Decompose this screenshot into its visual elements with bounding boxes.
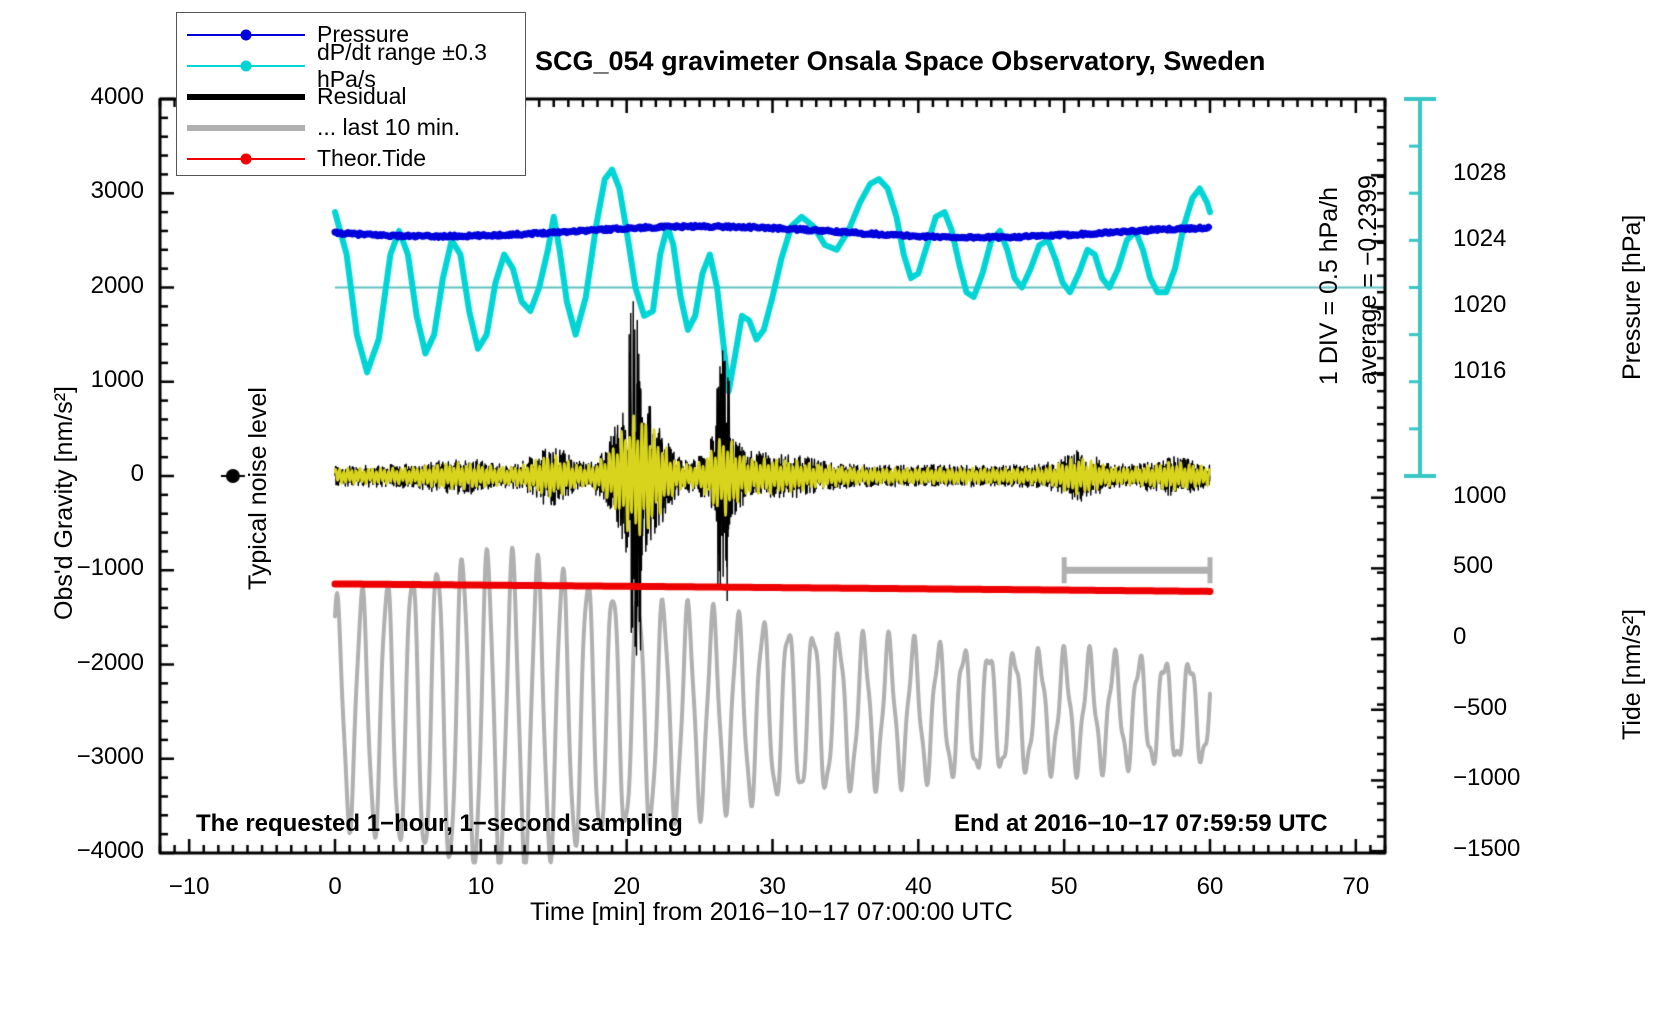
legend-item[interactable]: Theor.Tide <box>177 143 525 174</box>
chart-title: SCG_054 gravimeter Onsala Space Observat… <box>535 48 1265 75</box>
tide-axis-title: Tide [nm/s²] <box>1620 609 1645 740</box>
end-time-note: End at 2016−10−17 07:59:59 UTC <box>954 812 1328 836</box>
pressure-tick-label: 1024 <box>1453 227 1506 251</box>
legend-swatch-icon <box>187 149 305 169</box>
y-tick-label: 3000 <box>91 179 144 203</box>
sampling-note: The requested 1−hour, 1−second sampling <box>196 812 683 836</box>
x-tick-label: −10 <box>169 875 210 899</box>
y-axis-title: Obs'd Gravity [nm/s²] <box>52 386 77 620</box>
x-tick-label: 40 <box>905 875 932 899</box>
legend-swatch-icon <box>187 87 305 107</box>
gravimeter-plot-page: SCG_054 gravimeter Onsala Space Observat… <box>0 0 1676 1020</box>
legend-swatch-icon <box>187 118 305 138</box>
legend-item[interactable]: dP/dt range ±0.3 hPa/s <box>177 50 525 81</box>
scale-division-label: 1 DIV = 0.5 hPa/h <box>1317 187 1342 385</box>
scale-average-label: average = −0.2399 <box>1356 175 1381 385</box>
y-tick-label: 0 <box>131 462 144 486</box>
x-tick-label: 10 <box>467 875 494 899</box>
x-tick-label: 0 <box>328 875 341 899</box>
legend-item[interactable]: ... last 10 min. <box>177 112 525 143</box>
y-tick-label: −2000 <box>77 651 144 675</box>
legend-item-label: ... last 10 min. <box>317 114 460 141</box>
chart-legend[interactable]: PressuredP/dt range ±0.3 hPa/sResidual..… <box>176 12 526 176</box>
x-tick-label: 60 <box>1197 875 1224 899</box>
y-tick-label: −4000 <box>77 839 144 863</box>
typical-noise-level-label: Typical noise level <box>246 387 271 590</box>
y-tick-label: 4000 <box>91 85 144 109</box>
tide-tick-label: 500 <box>1453 554 1493 578</box>
tide-tick-label: −1500 <box>1453 837 1520 861</box>
y-tick-label: 1000 <box>91 368 144 392</box>
legend-swatch-icon <box>187 25 305 45</box>
x-tick-label: 20 <box>613 875 640 899</box>
tide-tick-label: 1000 <box>1453 484 1506 508</box>
pressure-tick-label: 1016 <box>1453 359 1506 383</box>
pressure-tick-label: 1028 <box>1453 161 1506 185</box>
x-tick-label: 50 <box>1051 875 1078 899</box>
x-axis-title: Time [min] from 2016−10−17 07:00:00 UTC <box>530 900 1013 925</box>
pressure-tick-label: 1020 <box>1453 293 1506 317</box>
x-tick-label: 30 <box>759 875 786 899</box>
legend-item-label: Residual <box>317 83 407 110</box>
tide-tick-label: 0 <box>1453 625 1466 649</box>
y-tick-label: 2000 <box>91 274 144 298</box>
y-tick-label: −1000 <box>77 556 144 580</box>
y-tick-label: −3000 <box>77 745 144 769</box>
pressure-axis-title: Pressure [hPa] <box>1620 215 1645 380</box>
legend-swatch-icon <box>187 56 305 76</box>
tide-tick-label: −1000 <box>1453 766 1520 790</box>
tide-tick-label: −500 <box>1453 696 1507 720</box>
legend-item-label: Theor.Tide <box>317 145 426 172</box>
x-tick-label: 70 <box>1342 875 1369 899</box>
